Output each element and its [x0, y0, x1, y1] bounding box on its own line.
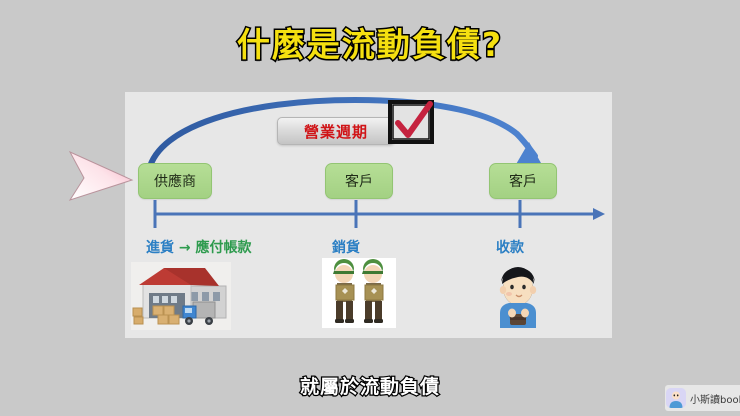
- watermark-label: 小斯讀book: [690, 391, 740, 406]
- pink-arrow-cursor-icon: [58, 148, 136, 204]
- warehouse-truck-icon: [131, 262, 231, 330]
- person-wallet-icon: [492, 266, 544, 328]
- node-customer-sale-label: 客戶: [345, 171, 373, 191]
- operating-cycle-label: 營業週期: [277, 117, 395, 145]
- node-customer-collect[interactable]: 客戶: [489, 163, 557, 199]
- checkbox-checked-icon: [386, 98, 440, 148]
- step-collect-label: 收款: [496, 237, 524, 257]
- step-purchase-arrow-icon: →: [179, 240, 191, 256]
- watermark: 小斯讀book: [665, 385, 740, 411]
- page-title: 什麼是流動負債?: [0, 18, 740, 66]
- node-supplier[interactable]: 供應商: [138, 163, 212, 199]
- operating-cycle-text: 營業週期: [304, 121, 368, 142]
- screen-canvas: 什麼是流動負債? 營業週期: [0, 0, 740, 416]
- node-supplier-label: 供應商: [154, 171, 196, 191]
- step-purchase-secondary: 應付帳款: [195, 240, 251, 256]
- step-purchase-primary: 進貨: [146, 240, 174, 256]
- step-sell-label: 銷貨: [332, 237, 360, 257]
- node-customer-collect-label: 客戶: [509, 171, 537, 191]
- avatar-icon: [666, 388, 686, 408]
- delivery-workers-icon: [322, 258, 396, 328]
- node-customer-sale[interactable]: 客戶: [325, 163, 393, 199]
- caption-text: 就屬於流動負債: [0, 372, 740, 399]
- step-purchase-label: 進貨 → 應付帳款: [146, 237, 251, 257]
